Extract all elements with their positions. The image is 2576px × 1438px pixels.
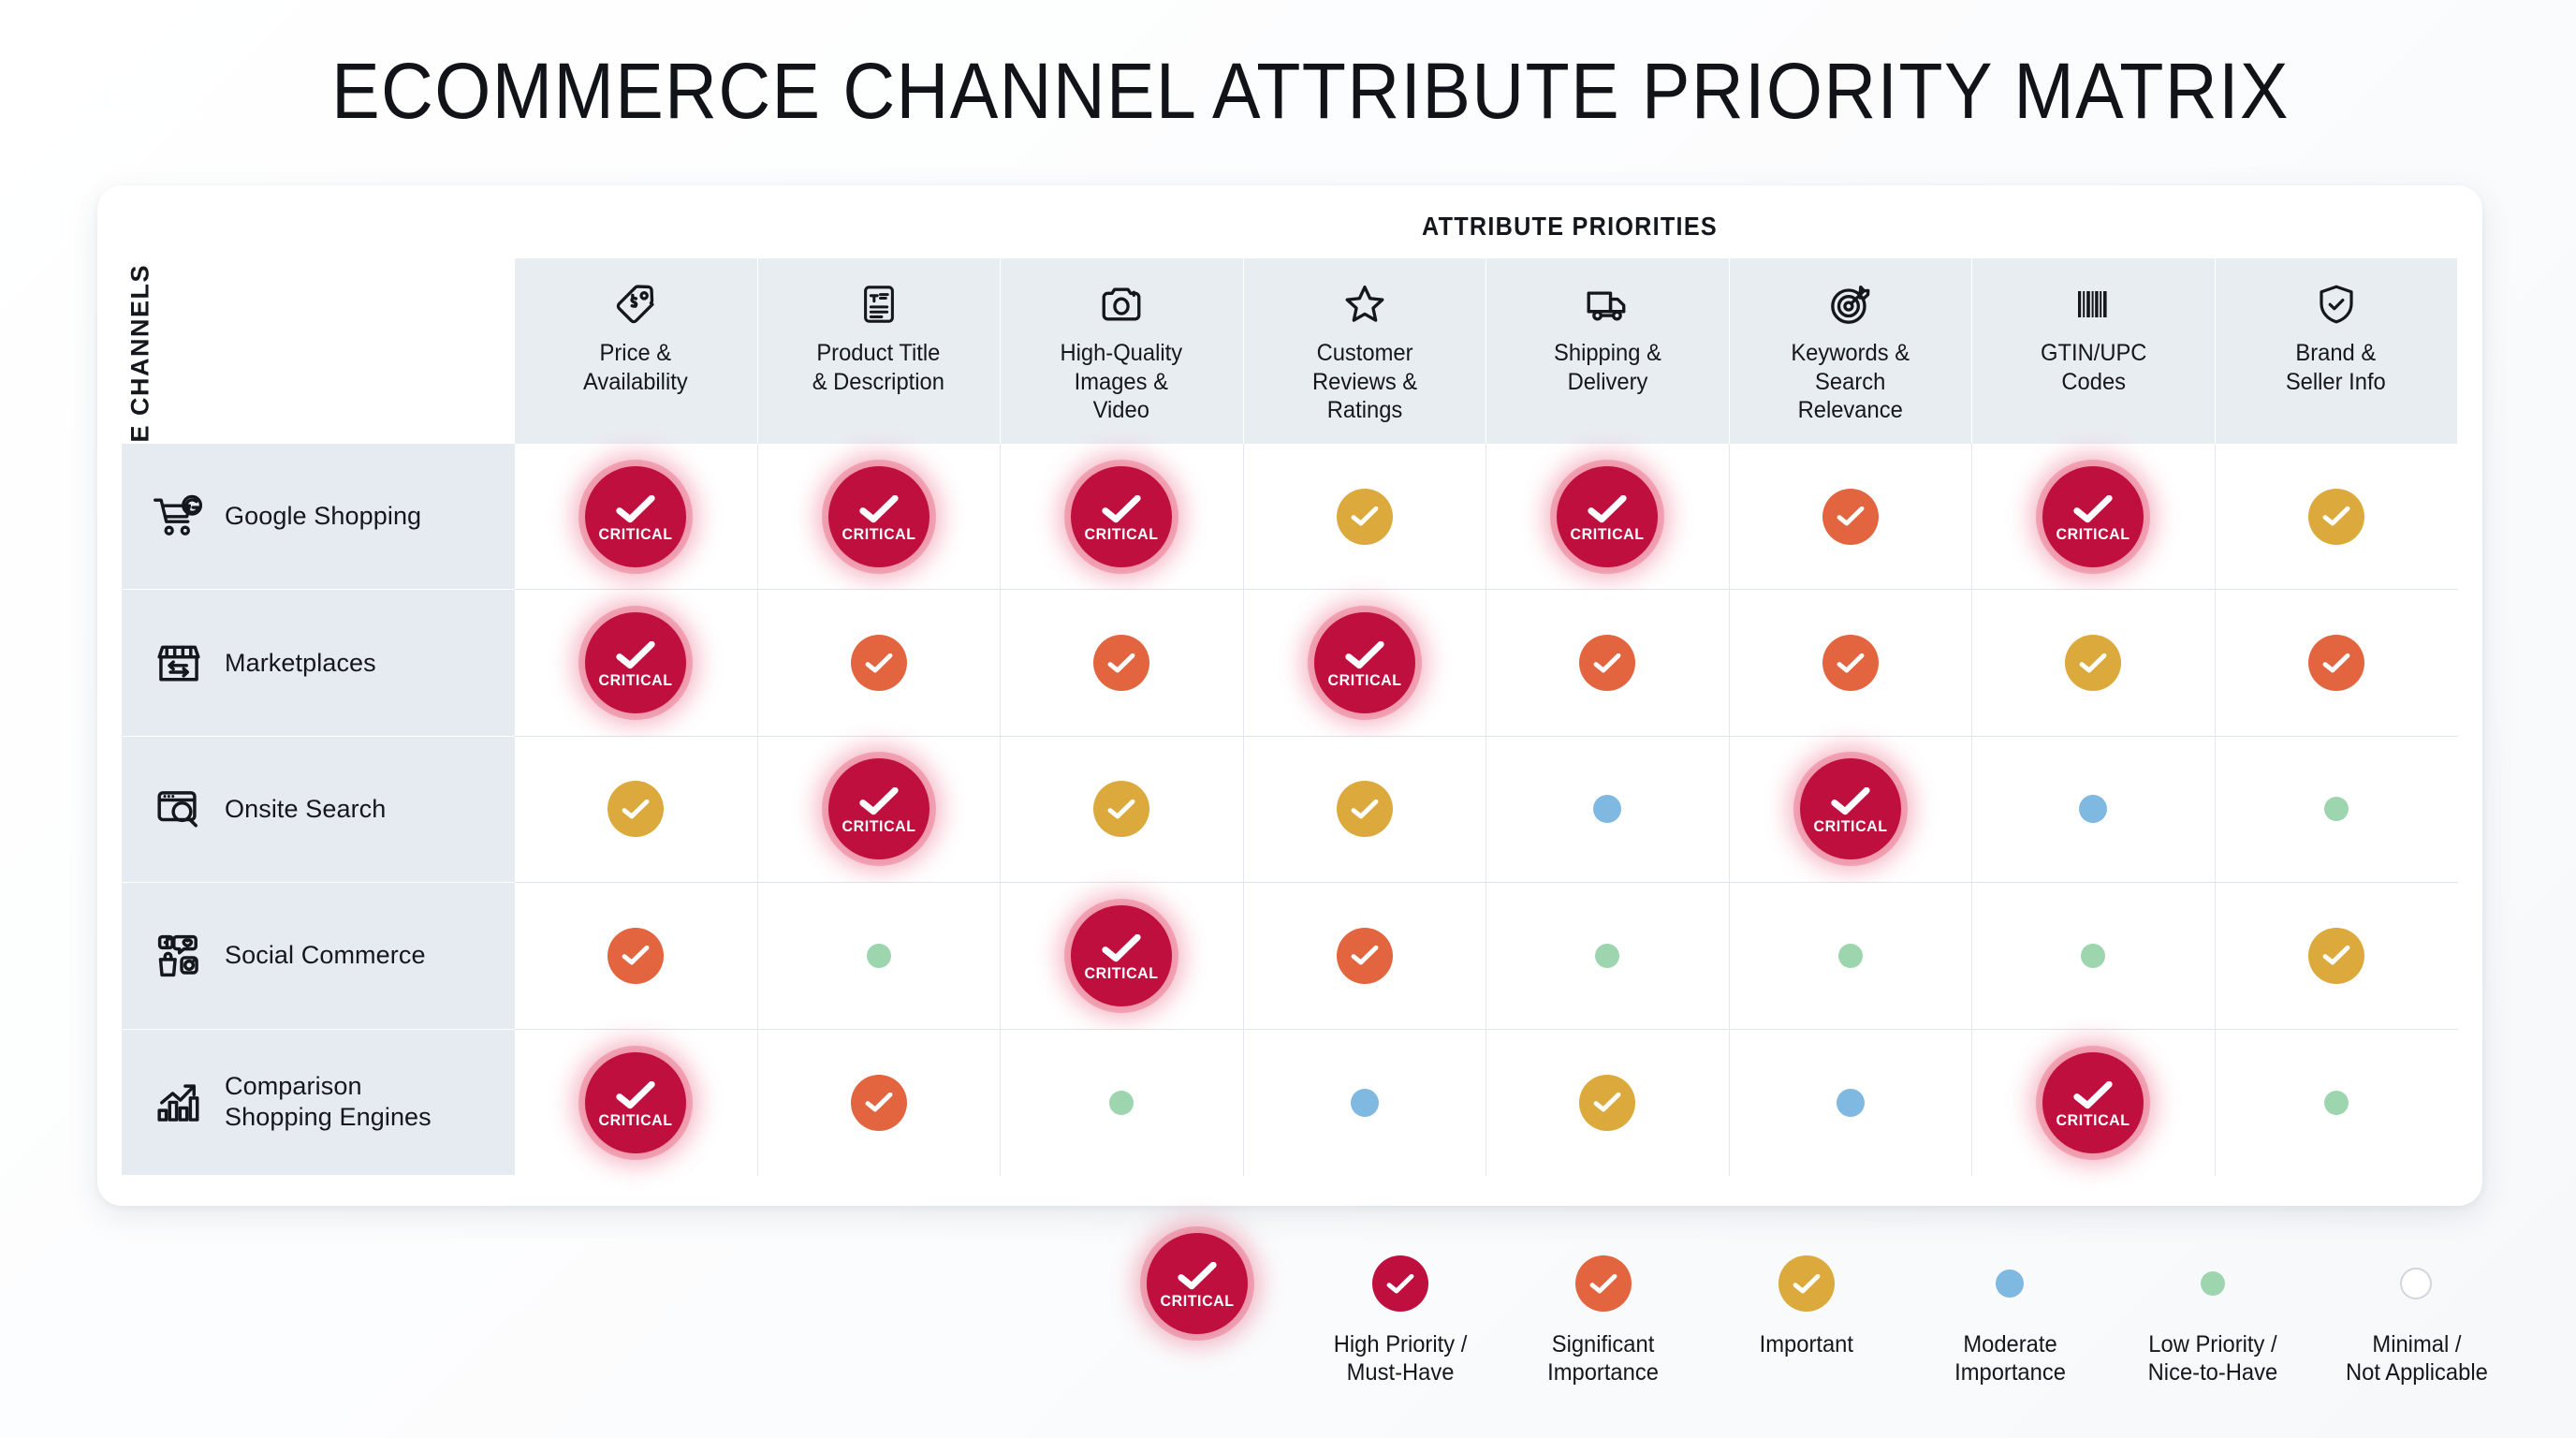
matrix-cell[interactable]	[1244, 883, 1487, 1029]
column-axis-title: ATTRIBUTE PRIORITIES	[772, 212, 2368, 242]
column-header-4[interactable]: Shipping & Delivery	[1486, 258, 1730, 444]
matrix-cell[interactable]: CRITICAL	[1244, 590, 1487, 736]
legend-item-critical[interactable]: CRITICAL	[1095, 1240, 1298, 1327]
matrix-cell[interactable]	[515, 883, 758, 1029]
cell-marker-significant	[2308, 635, 2364, 691]
legend-item-significant[interactable]: Significant Importance	[1501, 1240, 1705, 1387]
shopping-cart-google-icon	[152, 490, 206, 544]
matrix-cell[interactable]	[1730, 883, 1973, 1029]
cell-marker-important	[1093, 781, 1149, 837]
matrix-cell[interactable]: CRITICAL	[515, 590, 758, 736]
legend: CRITICAL High Priority / Must-Have Signi…	[1095, 1240, 2518, 1387]
matrix-cell[interactable]	[2216, 1030, 2459, 1176]
critical-badge-label: CRITICAL	[599, 1111, 673, 1130]
cell-marker-critical: CRITICAL	[1557, 466, 1658, 567]
critical-badge-label: CRITICAL	[1085, 964, 1159, 983]
critical-badge-label: CRITICAL	[1327, 671, 1401, 690]
cell-marker-moderate	[1837, 1089, 1865, 1117]
matrix-cell[interactable]	[1730, 444, 1973, 590]
cell-marker-significant	[1337, 928, 1393, 984]
matrix-cell[interactable]	[1972, 737, 2216, 883]
cell-marker-important	[607, 781, 664, 837]
document-text-icon	[857, 279, 900, 330]
cell-marker-moderate	[1351, 1089, 1379, 1117]
critical-badge-label: CRITICAL	[1571, 525, 1645, 544]
cell-marker-minimal	[2400, 1268, 2432, 1299]
legend-label: Significant Importance	[1547, 1330, 1659, 1387]
priority-matrix-grid: Price & Availability Product Title & Des…	[122, 258, 2458, 1176]
column-header-6[interactable]: GTIN/UPC Codes	[1972, 258, 2216, 444]
matrix-cell[interactable]: CRITICAL	[515, 444, 758, 590]
camera-icon	[1097, 279, 1146, 330]
cell-marker-low	[2081, 944, 2105, 968]
cell-marker-critical: CRITICAL	[585, 612, 686, 713]
cell-marker-moderate	[2079, 795, 2107, 823]
cell-marker-critical: CRITICAL	[585, 1052, 686, 1153]
legend-label: Moderate Importance	[1954, 1330, 2066, 1387]
barcode-icon	[2071, 279, 2115, 330]
legend-item-high[interactable]: High Priority / Must-Have	[1298, 1240, 1501, 1387]
cell-marker-significant	[1093, 635, 1149, 691]
legend-item-minimal[interactable]: Minimal / Not Applicable	[2315, 1240, 2518, 1387]
cell-marker-critical: CRITICAL	[1314, 612, 1415, 713]
matrix-cell[interactable]	[1730, 590, 1973, 736]
row-header-label: Onsite Search	[225, 794, 386, 825]
row-header-label: Comparison Shopping Engines	[225, 1071, 432, 1133]
bar-chart-arrow-icon	[152, 1075, 206, 1129]
column-header-2[interactable]: High-Quality Images & Video	[1001, 258, 1244, 444]
matrix-cell[interactable]	[1244, 737, 1487, 883]
cell-marker-critical: CRITICAL	[2042, 466, 2144, 567]
cell-marker-significant	[851, 635, 907, 691]
cell-marker-important	[2065, 635, 2121, 691]
page-title: ECOMMERCE CHANNEL ATTRIBUTE PRIORITY MAT…	[242, 51, 2378, 130]
matrix-cell[interactable]	[1486, 590, 1730, 736]
critical-badge-label: CRITICAL	[599, 671, 673, 690]
critical-badge-label: CRITICAL	[1085, 525, 1159, 544]
legend-label: Low Priority / Nice-to-Have	[2148, 1330, 2278, 1387]
cell-marker-important	[1337, 489, 1393, 545]
matrix-cell[interactable]	[1972, 590, 2216, 736]
column-header-5[interactable]: Keywords & Search Relevance	[1730, 258, 1973, 444]
star-icon	[1341, 279, 1388, 330]
legend-marker	[1778, 1240, 1835, 1327]
cell-marker-significant	[607, 928, 664, 984]
legend-item-important[interactable]: Important	[1705, 1240, 1908, 1358]
row-header-3[interactable]: Social Commerce	[122, 883, 515, 1029]
legend-label: Important	[1760, 1330, 1853, 1358]
cell-marker-low	[1109, 1091, 1134, 1115]
legend-label: High Priority / Must-Have	[1333, 1330, 1467, 1387]
cell-marker-low	[1838, 944, 1863, 968]
critical-badge-label: CRITICAL	[1160, 1292, 1234, 1311]
cell-marker-important	[1778, 1255, 1835, 1312]
matrix-cell[interactable]: CRITICAL	[758, 737, 1002, 883]
cell-marker-critical: CRITICAL	[1800, 758, 1901, 859]
matrix-cell[interactable]	[515, 737, 758, 883]
matrix-cell[interactable]	[1730, 1030, 1973, 1176]
matrix-cell[interactable]	[1001, 1030, 1244, 1176]
matrix-cell[interactable]	[2216, 883, 2459, 1029]
cell-marker-significant	[851, 1075, 907, 1131]
column-header-label: High-Quality Images & Video	[1061, 339, 1183, 425]
cell-marker-important	[2308, 928, 2364, 984]
column-header-label: Brand & Seller Info	[2286, 339, 2386, 396]
legend-marker	[1996, 1240, 2024, 1327]
legend-marker	[1575, 1240, 1632, 1327]
matrix-cell[interactable]	[758, 1030, 1002, 1176]
price-tag-icon	[612, 279, 659, 330]
cell-marker-low	[2324, 797, 2349, 821]
legend-marker: CRITICAL	[1147, 1240, 1248, 1327]
grid-corner	[122, 258, 515, 444]
matrix-cell[interactable]	[1244, 1030, 1487, 1176]
matrix-cell[interactable]: CRITICAL	[1972, 1030, 2216, 1176]
matrix-cell[interactable]	[2216, 737, 2459, 883]
legend-item-moderate[interactable]: Moderate Importance	[1909, 1240, 2112, 1387]
matrix-cell[interactable]	[1972, 883, 2216, 1029]
legend-marker	[1372, 1240, 1428, 1327]
legend-item-low[interactable]: Low Priority / Nice-to-Have	[2112, 1240, 2315, 1387]
matrix-cell[interactable]: CRITICAL	[1001, 883, 1244, 1029]
matrix-cell[interactable]	[1486, 883, 1730, 1029]
row-header-1[interactable]: Marketplaces	[122, 590, 515, 736]
critical-badge-label: CRITICAL	[599, 525, 673, 544]
legend-marker	[2201, 1240, 2225, 1327]
cell-marker-moderate	[1996, 1269, 2024, 1298]
row-header-label: Marketplaces	[225, 648, 376, 679]
browser-search-icon	[152, 782, 206, 836]
cell-marker-significant	[1822, 489, 1879, 545]
column-header-7[interactable]: Brand & Seller Info	[2216, 258, 2459, 444]
matrix-cell[interactable]: CRITICAL	[1730, 737, 1973, 883]
matrix-cell[interactable]	[1001, 737, 1244, 883]
matrix-cell[interactable]	[1486, 1030, 1730, 1176]
cell-marker-high	[1372, 1255, 1428, 1312]
column-header-label: Keywords & Search Relevance	[1791, 339, 1910, 425]
row-header-2[interactable]: Onsite Search	[122, 737, 515, 883]
column-header-label: GTIN/UPC Codes	[2041, 339, 2146, 396]
cell-marker-critical: CRITICAL	[828, 466, 929, 567]
cell-marker-important	[1579, 1075, 1635, 1131]
cell-marker-moderate	[1593, 795, 1621, 823]
matrix-cell[interactable]	[758, 883, 1002, 1029]
matrix-cell[interactable]	[1486, 737, 1730, 883]
matrix-cell[interactable]	[758, 590, 1002, 736]
legend-label: Minimal / Not Applicable	[2345, 1330, 2487, 1387]
cell-marker-important	[2308, 489, 2364, 545]
column-header-label: Price & Availability	[583, 339, 688, 396]
column-header-label: Customer Reviews & Ratings	[1312, 339, 1417, 425]
matrix-cell[interactable]: CRITICAL	[1972, 444, 2216, 590]
storefront-exchange-icon	[152, 636, 206, 690]
column-header-0[interactable]: Price & Availability	[515, 258, 758, 444]
row-header-label: Social Commerce	[225, 940, 426, 971]
column-header-1[interactable]: Product Title & Description	[758, 258, 1002, 444]
target-dart-icon	[1827, 279, 1874, 330]
social-shopping-icon	[152, 929, 206, 983]
matrix-cell[interactable]: CRITICAL	[1486, 444, 1730, 590]
column-header-label: Shipping & Delivery	[1554, 339, 1661, 396]
critical-badge-label: CRITICAL	[842, 525, 915, 544]
critical-badge-label: CRITICAL	[2056, 525, 2130, 544]
cell-marker-critical: CRITICAL	[585, 466, 686, 567]
matrix-cell[interactable]	[1001, 590, 1244, 736]
matrix-cell[interactable]	[1244, 444, 1487, 590]
cell-marker-significant	[1575, 1255, 1632, 1312]
infographic-page: ECOMMERCE CHANNEL ATTRIBUTE PRIORITY MAT…	[0, 0, 2576, 1438]
cell-marker-low	[867, 944, 891, 968]
cell-marker-low	[2201, 1271, 2225, 1296]
critical-badge-label: CRITICAL	[842, 817, 915, 836]
matrix-cell[interactable]: CRITICAL	[1001, 444, 1244, 590]
critical-badge-label: CRITICAL	[1813, 817, 1887, 836]
cell-marker-low	[1595, 944, 1619, 968]
legend-marker	[2400, 1240, 2432, 1327]
matrix-cell[interactable]: CRITICAL	[758, 444, 1002, 590]
matrix-cell[interactable]	[2216, 590, 2459, 736]
cell-marker-critical: CRITICAL	[1071, 466, 1172, 567]
cell-marker-critical: CRITICAL	[2042, 1052, 2144, 1153]
column-header-3[interactable]: Customer Reviews & Ratings	[1244, 258, 1487, 444]
shield-check-icon	[2314, 279, 2359, 330]
cell-marker-significant	[1822, 635, 1879, 691]
column-header-label: Product Title & Description	[812, 339, 944, 396]
cell-marker-critical: CRITICAL	[828, 758, 929, 859]
row-header-4[interactable]: Comparison Shopping Engines	[122, 1030, 515, 1176]
truck-icon	[1582, 279, 1632, 330]
cell-marker-low	[2324, 1091, 2349, 1115]
cell-marker-critical: CRITICAL	[1071, 905, 1172, 1006]
matrix-cell[interactable]: CRITICAL	[515, 1030, 758, 1176]
matrix-cell[interactable]	[2216, 444, 2459, 590]
matrix-card: ATTRIBUTE PRIORITIES ECOMMERCE CHANNELS …	[97, 185, 2482, 1206]
cell-marker-critical: CRITICAL	[1147, 1233, 1248, 1334]
cell-marker-important	[1337, 781, 1393, 837]
row-header-label: Google Shopping	[225, 501, 421, 532]
row-header-0[interactable]: Google Shopping	[122, 444, 515, 590]
cell-marker-significant	[1579, 635, 1635, 691]
critical-badge-label: CRITICAL	[2056, 1111, 2130, 1130]
